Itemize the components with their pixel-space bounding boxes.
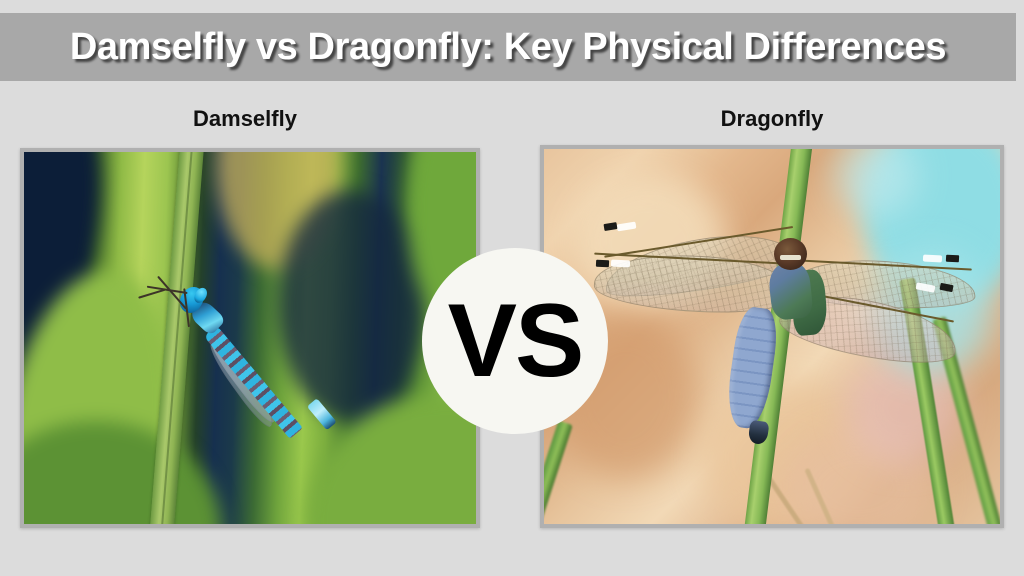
thorax <box>767 261 814 321</box>
vs-label: VS <box>448 289 583 393</box>
dragonfly-photo <box>544 149 1000 524</box>
dragonfly-photo-frame <box>540 145 1004 528</box>
wing-tip-marking <box>616 221 636 231</box>
page-title: Damselfly vs Dragonfly: Key Physical Dif… <box>70 26 946 69</box>
dragonfly-insect <box>594 205 968 438</box>
title-banner: Damselfly vs Dragonfly: Key Physical Dif… <box>0 13 1016 81</box>
pterostigma <box>603 222 617 231</box>
wing-tip-marking <box>611 259 630 267</box>
abdomen <box>204 325 303 439</box>
wing-tip-marking <box>923 255 942 263</box>
vs-badge: VS <box>422 248 608 434</box>
grass-stem <box>544 420 572 524</box>
pterostigma <box>945 255 959 263</box>
left-photo-caption: Damselfly <box>95 106 395 132</box>
abdomen <box>723 305 781 430</box>
damselfly-photo-frame <box>20 148 480 528</box>
right-photo-caption: Dragonfly <box>622 106 922 132</box>
damselfly-photo <box>24 152 476 524</box>
pterostigma <box>596 260 610 268</box>
abdomen-tip <box>307 398 336 430</box>
